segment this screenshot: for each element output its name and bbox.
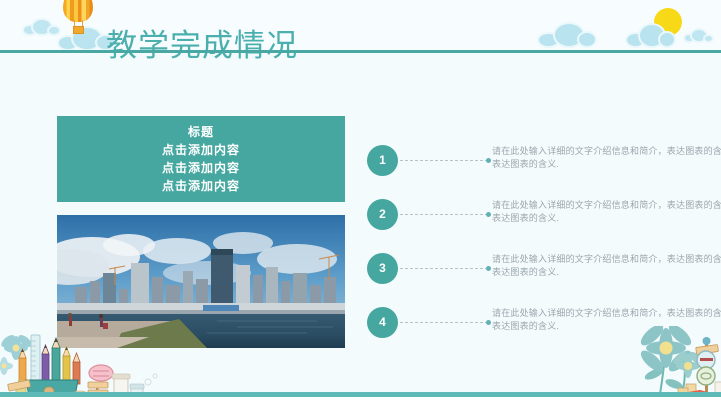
city-photo — [57, 215, 345, 348]
connector-endcap-icon — [486, 158, 491, 163]
bullet-number-4[interactable]: 4 — [367, 307, 398, 338]
bullet-number-3[interactable]: 3 — [367, 253, 398, 284]
item-text-1[interactable]: 请在此处输入详细的文字介绍信息和简介，表达图表的含义.表达图表的含义. — [492, 145, 721, 171]
connector-endcap-icon — [486, 266, 491, 271]
hot-air-balloon-icon — [58, 0, 100, 40]
card-line-3[interactable]: 点击添加内容 — [57, 177, 345, 195]
card-line-1[interactable]: 点击添加内容 — [57, 141, 345, 159]
teal-text-card: 标题 点击添加内容 点击添加内容 点击添加内容 — [57, 116, 345, 202]
header-divider — [0, 50, 721, 53]
bullet-number-2[interactable]: 2 — [367, 199, 398, 230]
slide-canvas: 教学完成情况 标题 点击添加内容 点击添加内容 点击添加内容 — [0, 0, 721, 405]
item-text-3[interactable]: 请在此处输入详细的文字介绍信息和简介，表达图表的含义.表达图表的含义. — [492, 253, 721, 279]
connector-endcap-icon — [486, 320, 491, 325]
connector-line-2 — [400, 214, 488, 216]
sun-icon — [654, 8, 682, 36]
connector-line-1 — [400, 160, 488, 162]
item-text-2[interactable]: 请在此处输入详细的文字介绍信息和简介，表达图表的含义.表达图表的含义. — [492, 199, 721, 225]
page-title: 教学完成情况 — [106, 27, 298, 65]
connector-line-3 — [400, 268, 488, 270]
item-text-4[interactable]: 请在此处输入详细的文字介绍信息和简介，表达图表的含义.表达图表的含义. — [492, 307, 721, 333]
card-line-2[interactable]: 点击添加内容 — [57, 159, 345, 177]
bullet-number-1[interactable]: 1 — [367, 145, 398, 176]
connector-endcap-icon — [486, 212, 491, 217]
connector-line-4 — [400, 322, 488, 324]
card-title: 标题 — [57, 124, 345, 141]
footer-white-strip — [0, 397, 721, 405]
